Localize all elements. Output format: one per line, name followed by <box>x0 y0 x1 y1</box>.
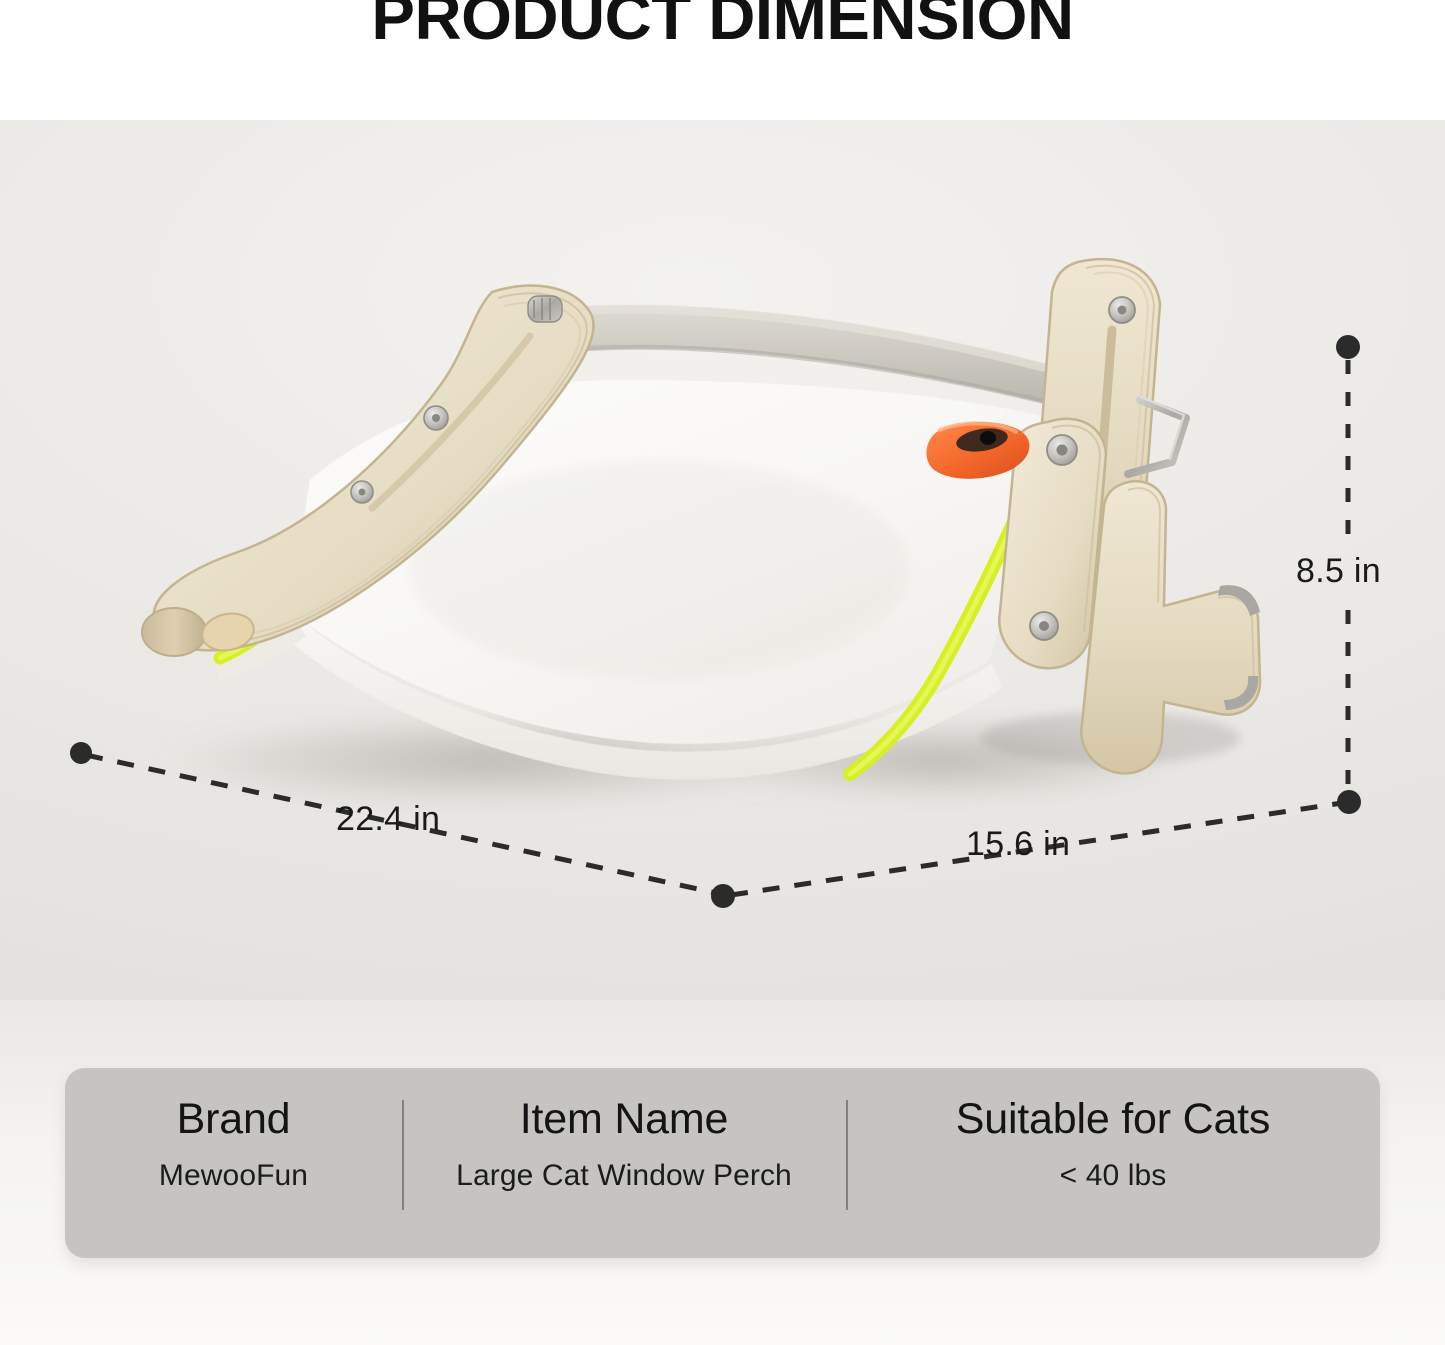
left-arm-foot <box>142 608 206 656</box>
product-info-bar: Brand MewooFun Item Name Large Cat Windo… <box>65 1068 1380 1258</box>
page-title: PRODUCT DIMENSION <box>0 0 1445 51</box>
info-heading-brand: Brand <box>177 1094 291 1145</box>
header-band: PRODUCT DIMENSION <box>0 0 1445 120</box>
left-arm-screw-lower-core <box>359 489 366 496</box>
info-heading-item-name: Item Name <box>520 1094 728 1145</box>
left-arm-screw-upper-core <box>432 414 440 422</box>
info-value-suitable-for-cats: < 40 lbs <box>1060 1158 1167 1194</box>
right-arm-screw-top-core <box>1118 306 1127 315</box>
info-value-item-name: Large Cat Window Perch <box>456 1158 792 1194</box>
support-arm-pivot-upper-core <box>1057 445 1068 456</box>
left-arm-hinge <box>528 296 562 322</box>
info-cell-item-name: Item Name Large Cat Window Perch <box>402 1068 846 1194</box>
product-photo <box>60 240 1290 840</box>
fleece-center-shade <box>410 460 910 680</box>
info-cell-brand: Brand MewooFun <box>65 1068 402 1194</box>
info-cell-suitable-for-cats: Suitable for Cats < 40 lbs <box>846 1068 1380 1194</box>
info-divider-2 <box>846 1100 848 1210</box>
info-heading-suitable-for-cats: Suitable for Cats <box>956 1094 1270 1145</box>
support-arm-pivot-lower-core <box>1039 621 1049 631</box>
info-value-brand: MewooFun <box>159 1158 308 1194</box>
infographic-canvas: 22.4 in 15.6 in 8.5 in PRODUCT DIMENSION… <box>0 0 1445 1345</box>
info-divider-1 <box>402 1100 404 1210</box>
orange-clip-hole <box>980 431 996 445</box>
